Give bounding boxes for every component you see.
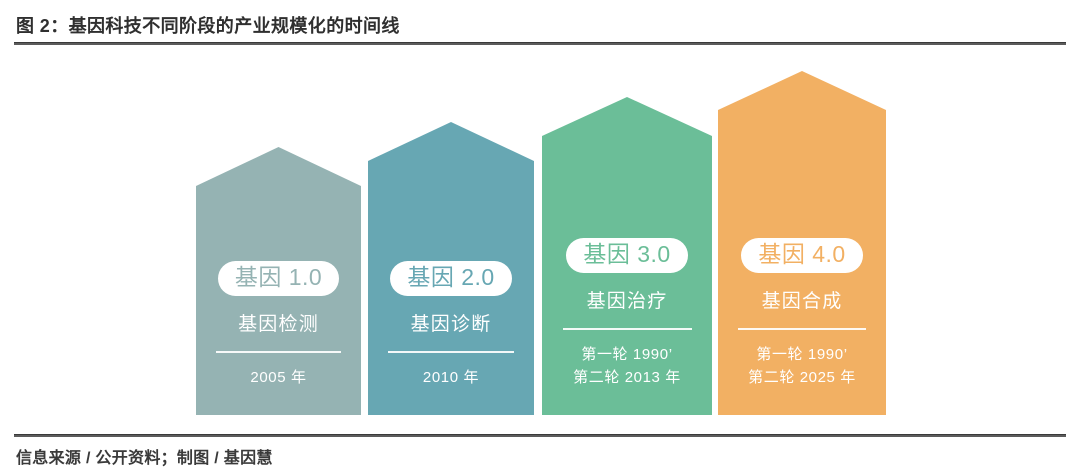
stage-arrow-2[interactable]: 基因 2.0基因诊断2010 年	[368, 122, 534, 415]
stage-label-2: 基因诊断	[411, 309, 492, 336]
stage-arrow-content-4: 基因 4.0基因合成第一轮 1990’第二轮 2025 年	[718, 238, 886, 415]
stage-year-line: 第一轮 1990’	[573, 344, 681, 367]
stage-divider-3	[563, 328, 692, 330]
page-title: 图 2：基因科技不同阶段的产业规模化的时间线	[16, 12, 1016, 38]
stage-label-3: 基因治疗	[587, 286, 668, 313]
stage-badge-2: 基因 2.0	[390, 261, 511, 296]
stage-arrow-content-3: 基因 3.0基因治疗第一轮 1990’第二轮 2013 年	[542, 238, 712, 415]
source-divider-rule	[14, 434, 1066, 437]
stage-year-line: 2010 年	[423, 367, 479, 390]
stage-arrow-1[interactable]: 基因 1.0基因检测2005 年	[196, 147, 361, 415]
stage-arrow-content-1: 基因 1.0基因检测2005 年	[196, 261, 361, 415]
stage-years-2: 2010 年	[423, 367, 479, 390]
title-divider-rule	[14, 42, 1066, 45]
source-note: 信息来源 / 公开资料；制图 / 基因慧	[16, 444, 273, 468]
stage-years-4: 第一轮 1990’第二轮 2025 年	[748, 344, 856, 389]
timeline-chart: 基因 1.0基因检测2005 年基因 2.0基因诊断2010 年基因 3.0基因…	[0, 52, 1080, 424]
stage-badge-1: 基因 1.0	[218, 261, 339, 296]
stage-badge-3: 基因 3.0	[566, 238, 687, 273]
stage-badge-4: 基因 4.0	[741, 238, 862, 273]
stage-arrow-3[interactable]: 基因 3.0基因治疗第一轮 1990’第二轮 2013 年	[542, 97, 712, 415]
stage-year-line: 第二轮 2013 年	[573, 367, 681, 390]
stage-year-line: 2005 年	[250, 367, 306, 390]
stage-divider-2	[388, 351, 514, 353]
figure-root: 图 2：基因科技不同阶段的产业规模化的时间线 基因 1.0基因检测2005 年基…	[0, 0, 1080, 469]
stage-arrow-content-2: 基因 2.0基因诊断2010 年	[368, 261, 534, 415]
stage-year-line: 第二轮 2025 年	[748, 367, 856, 390]
stage-divider-4	[738, 328, 866, 330]
stage-year-line: 第一轮 1990’	[748, 344, 856, 367]
stage-years-3: 第一轮 1990’第二轮 2013 年	[573, 344, 681, 389]
stage-label-4: 基因合成	[762, 286, 843, 313]
stage-divider-1	[216, 351, 341, 353]
stage-arrow-4[interactable]: 基因 4.0基因合成第一轮 1990’第二轮 2025 年	[718, 71, 886, 415]
stage-label-1: 基因检测	[238, 309, 319, 336]
stage-years-1: 2005 年	[250, 367, 306, 390]
